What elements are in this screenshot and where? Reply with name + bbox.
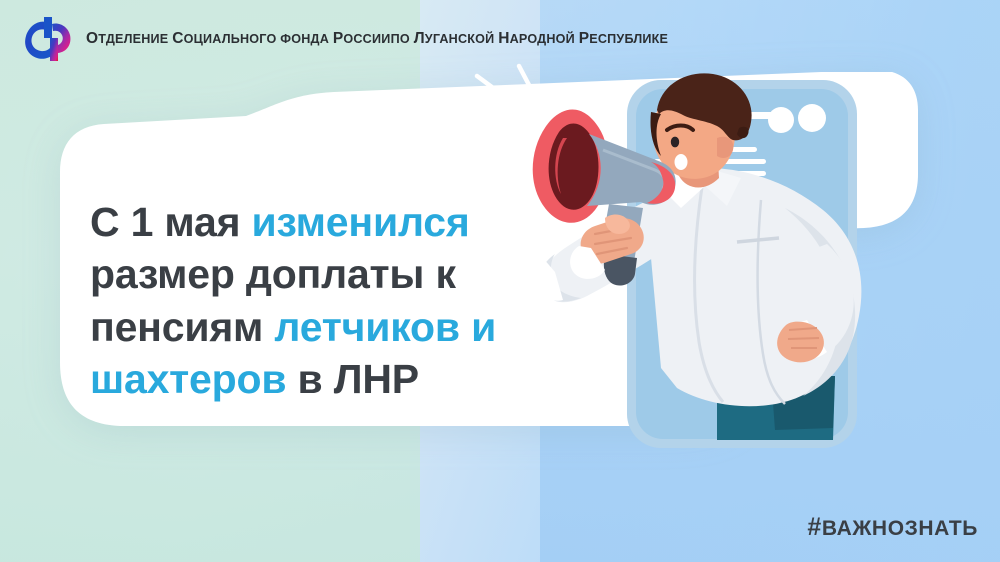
brand-l1-p1-cap: О [86,30,98,47]
headline-line-1: С 1 мая изменился [90,196,650,248]
brand-l2-p2-cap: Л [414,30,425,47]
brand-l2-p3-cap: Н [498,30,509,47]
brand-l1-p2-rest: оциального [184,32,277,46]
hashtag-word: ВАЖНОЗНАТЬ [822,517,978,540]
hashtag-symbol: # [807,513,822,541]
hashtag: #ВАЖНОЗНАТЬ [807,513,978,542]
headline-l1-s1: С 1 мая [90,199,252,245]
headline-line-2: размер доплаты к [90,248,650,300]
sound-rays [455,66,539,216]
brand-l2-p4-rest: еспублике [589,32,668,46]
brand-l1-p1-rest: тделение [98,32,168,46]
headline-l2-s1: размер доплаты к [90,251,456,297]
headline-l4-s2: в ЛНР [286,356,419,402]
poster-canvas: Отделение Социального фонда России по Лу… [0,0,1000,562]
headline-line-3: пенсиям летчиков и [90,301,650,353]
brand-l1-p4-rest: оссии [343,32,390,46]
brand-l2-p1-rest: по [391,32,410,46]
brand-l2-p2-rest: уганской [425,32,495,46]
headline-l3-s2: летчиков и [274,304,496,350]
brand-lockup: Отделение Социального фонда России по Лу… [22,14,668,64]
brand-l2-p3-rest: ародной [510,32,575,46]
brand-l1-p3-rest: фонда [280,32,329,46]
headline-line-4: шахтеров в ЛНР [90,353,650,405]
headline: С 1 мая изменился размер доплаты к пенси… [90,196,650,406]
brand-l2-p4-cap: Р [579,30,590,47]
headline-l3-s1: пенсиям [90,304,274,350]
eye [671,137,679,148]
brand-l1-p4-cap: Р [333,30,344,47]
brand-text-block: Отделение Социального фонда России по Лу… [86,30,668,49]
headline-l4-s1: шахтеров [90,356,286,402]
open-mouth [675,154,688,170]
brand-l1-p2-cap: С [172,30,183,47]
sfr-monogram-logo-icon [22,14,74,64]
headline-l1-s2: изменился [252,199,470,245]
